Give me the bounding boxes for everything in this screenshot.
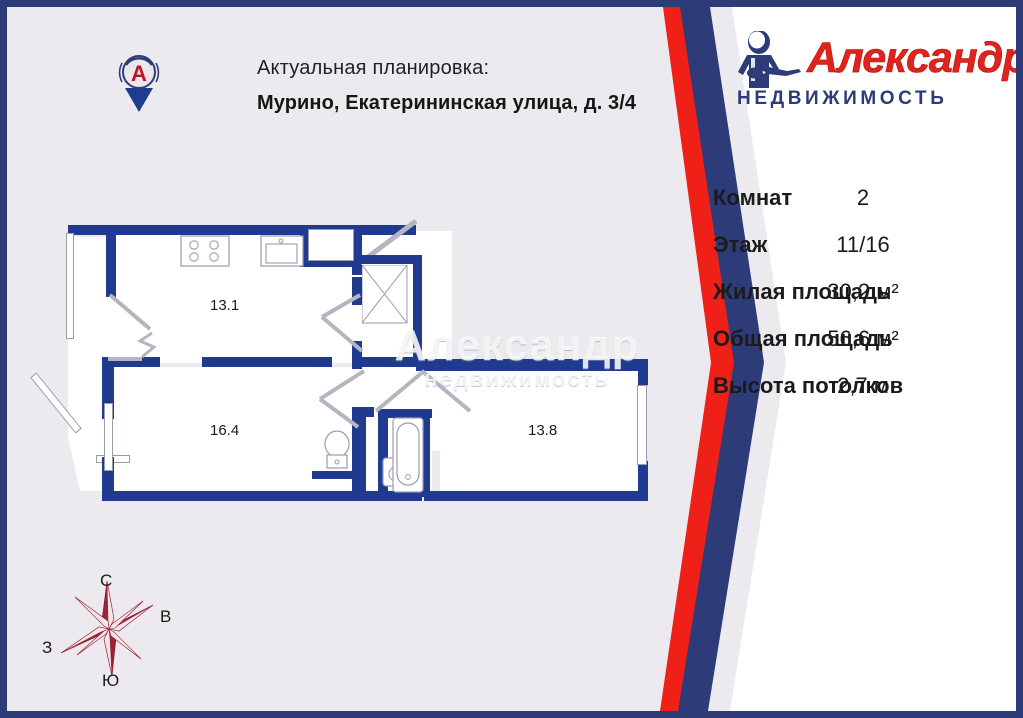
kitchen-sink-icon [260,235,304,267]
wall-living-bottom [102,491,422,501]
vestibule-closet-box [308,229,354,261]
info-label-living-area: Жилая площадь [713,279,891,305]
wall-toilet-shelf [312,471,360,479]
door-kitchen-hall-icon [304,291,374,361]
wall-bedroom-bottom [424,491,648,501]
logo-brand-text: Александр [807,37,1016,80]
map-pin-icon: A [117,52,161,114]
floor-plan: 13.1 16.4 13.8 [62,217,662,507]
room-area-living: 16.4 [210,422,239,439]
compass-label-north: С [100,571,112,591]
wall-wardrobe-right [413,255,422,363]
plan-caption: Актуальная планировка: [257,57,637,80]
header-text-block: Актуальная планировка: Мурино, Екатерини… [257,57,637,115]
compass-label-east: В [160,607,171,627]
info-label-ceiling-height: Высота потолков [713,373,903,399]
compass-label-south: Ю [102,671,119,691]
info-label-total-area: Общая площадь [713,326,893,352]
info-label-floor: Этаж [713,232,767,258]
poster-root: A Актуальная планировка: Мурино, Екатери… [0,0,1023,718]
window-bay-left [66,233,74,339]
plan-address: Мурино, Екатерининская улица, д. 3/4 [257,92,637,115]
compass-label-west: З [42,638,52,658]
stove-icon [180,235,230,267]
company-logo: Александр НЕДВИЖИМОСТЬ [725,31,1015,131]
poster-canvas: A Актуальная планировка: Мурино, Екатери… [7,7,1016,711]
window-living-left [104,403,113,471]
door-kitchen-bay-icon [106,293,190,365]
window-bedroom-right [637,385,647,465]
toilet-icon [320,429,354,473]
room-area-bedroom: 13.8 [528,422,557,439]
logo-subtitle-text: НЕДВИЖИМОСТЬ [737,89,947,108]
wall-bedroom-right-upper [638,359,648,385]
door-toilet-icon [414,367,484,419]
info-label-rooms: Комнат [713,185,792,211]
bathtub-icon [392,417,424,493]
room-area-kitchen: 13.1 [210,297,239,314]
property-info-list: Комнат 2 Этаж 11/16 Жилая площадь 30,2 м… [713,185,1013,420]
wall-bay-divider-top [106,225,116,297]
svg-text:A: A [131,61,147,86]
compass-rose: С В З Ю [42,567,177,697]
